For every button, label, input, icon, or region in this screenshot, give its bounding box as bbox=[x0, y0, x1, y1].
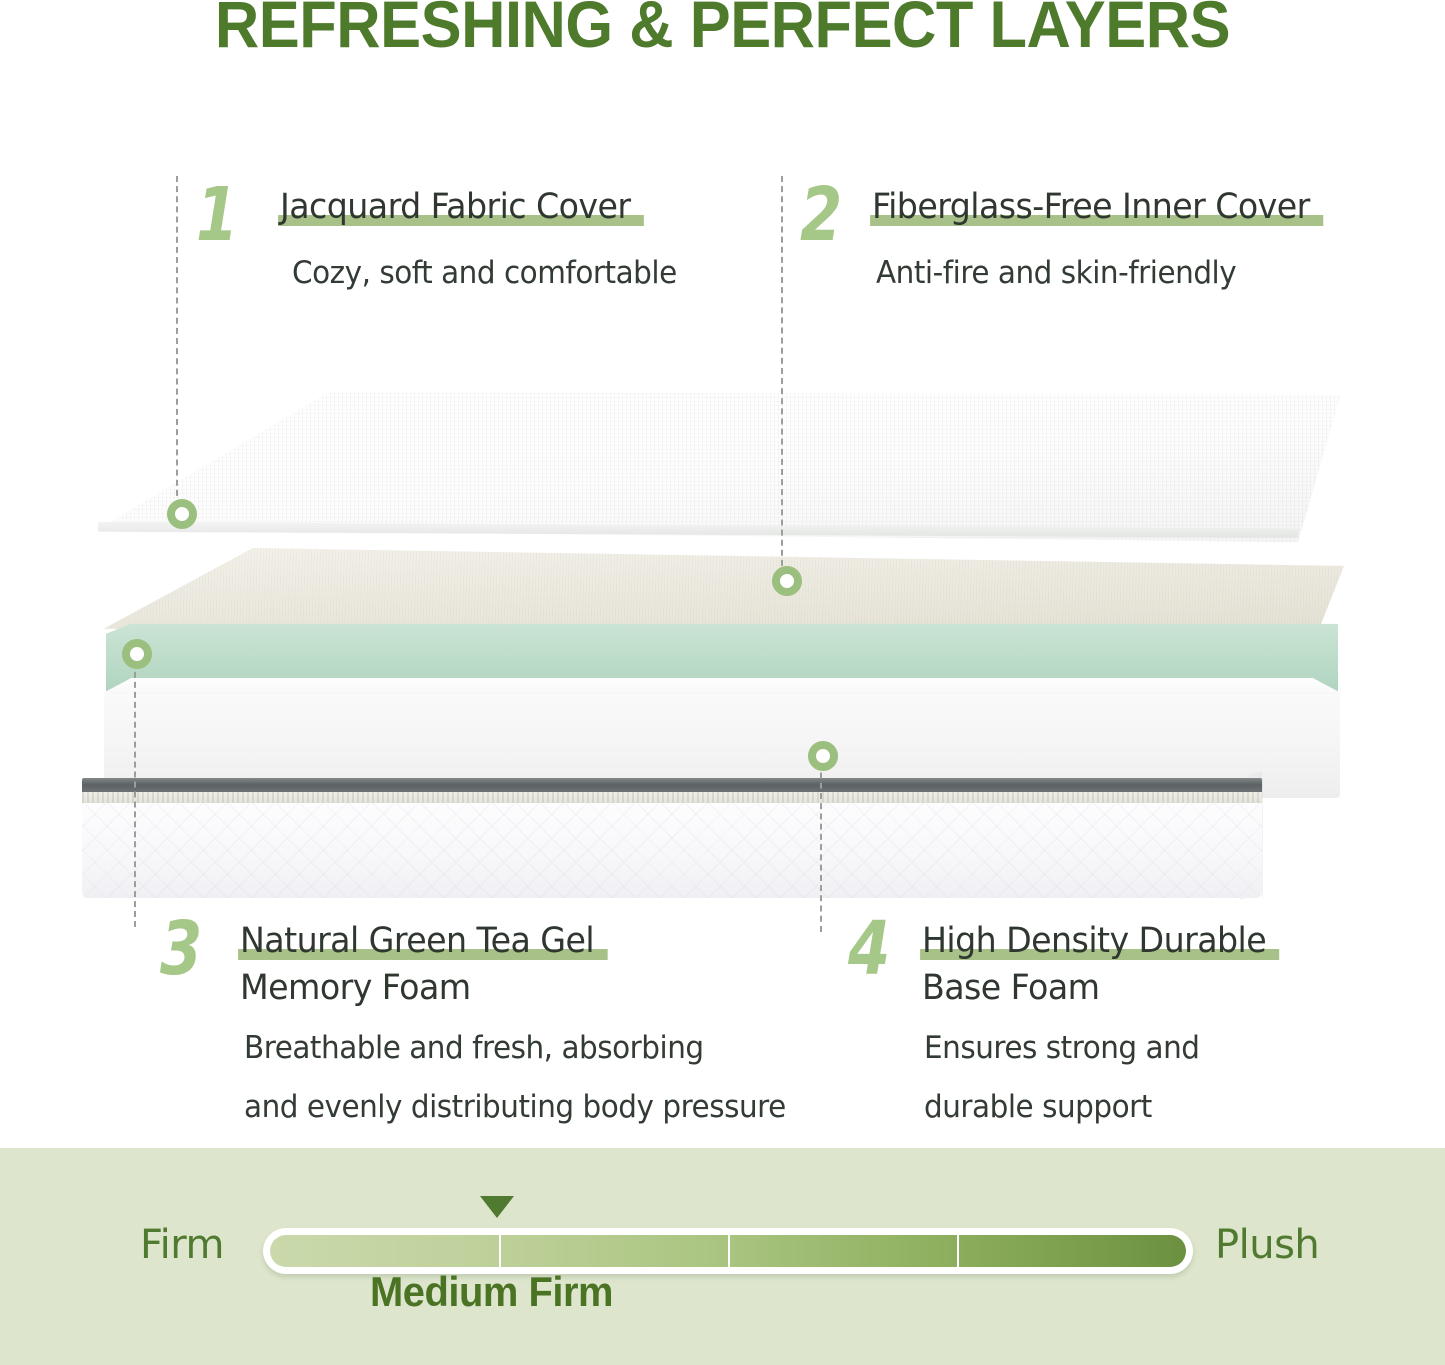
firmness-selected-label: Medium Firm bbox=[370, 1268, 613, 1316]
firmness-scale-track bbox=[270, 1235, 1186, 1267]
callout-4-body: High Density Durable Base Foam Ensures s… bbox=[922, 918, 1284, 1130]
layer-mattress-body bbox=[82, 778, 1262, 898]
firmness-marker-triangle-icon bbox=[480, 1196, 514, 1218]
leader-line-1 bbox=[176, 176, 178, 506]
callout-2-body: Fiberglass-Free Inner Cover Anti-fire an… bbox=[872, 184, 1333, 296]
callout-1-heading-highlight: Jacquard Fabric Cover bbox=[280, 184, 630, 231]
layer-jacquard-fabric-cover bbox=[98, 392, 1348, 542]
callout-4-number: 4 bbox=[848, 912, 890, 986]
firmness-segment-divider-2 bbox=[728, 1235, 730, 1267]
layer-marker-ring-3 bbox=[122, 639, 152, 669]
callout-3-body: Natural Green Tea Gel Memory Foam Breath… bbox=[240, 918, 814, 1130]
mattress-piping-dark bbox=[82, 778, 1262, 793]
callout-1-description: Cozy, soft and comfortable bbox=[292, 251, 677, 296]
firmness-right-label: Plush bbox=[1215, 1222, 1319, 1268]
base-foam-top-face bbox=[104, 678, 1340, 694]
leader-line-4 bbox=[820, 752, 822, 932]
callout-1-heading: Jacquard Fabric Cover bbox=[280, 184, 676, 231]
callout-3-heading-highlight: Natural Green Tea Gel bbox=[240, 918, 594, 965]
layer-marker-ring-2 bbox=[772, 566, 802, 596]
callout-4-description-line2: durable support bbox=[924, 1085, 1266, 1130]
firmness-segment-divider-3 bbox=[957, 1235, 959, 1267]
callout-1-body: Jacquard Fabric Cover Cozy, soft and com… bbox=[280, 184, 697, 296]
firmness-left-label: Firm bbox=[140, 1222, 224, 1268]
callout-3-description-line1: Breathable and fresh, absorbing bbox=[244, 1026, 786, 1071]
callout-4-heading-line1: High Density Durable bbox=[922, 918, 1266, 965]
callout-3-heading-line1: Natural Green Tea Gel bbox=[240, 918, 786, 965]
jacquard-top-surface bbox=[98, 392, 1348, 542]
callout-4-heading-line2: Base Foam bbox=[922, 965, 1266, 1012]
callout-3-heading-line2: Memory Foam bbox=[240, 965, 786, 1012]
infographic-stage: REFRESHING & PERFECT LAYERS bbox=[0, 0, 1445, 1365]
mattress-quilted-face bbox=[82, 803, 1262, 898]
callout-4-heading-highlight: High Density Durable bbox=[922, 918, 1266, 965]
callout-1-number: 1 bbox=[196, 178, 238, 252]
layer-marker-ring-4 bbox=[808, 741, 838, 771]
callout-3-number: 3 bbox=[160, 912, 202, 986]
callout-2-heading: Fiberglass-Free Inner Cover bbox=[872, 184, 1310, 231]
leader-line-2 bbox=[781, 176, 783, 576]
leader-line-3 bbox=[134, 652, 136, 927]
layer-marker-ring-1 bbox=[167, 499, 197, 529]
firmness-segment-divider-1 bbox=[499, 1235, 501, 1267]
callout-3-description-line2: and evenly distributing body pressure bbox=[244, 1085, 786, 1130]
callout-2-number: 2 bbox=[800, 178, 842, 252]
mattress-right-edge bbox=[1262, 778, 1263, 898]
callout-2-description: Anti-fire and skin-friendly bbox=[876, 251, 1310, 296]
callout-2-heading-highlight: Fiberglass-Free Inner Cover bbox=[872, 184, 1310, 231]
callout-4-description-line1: Ensures strong and bbox=[924, 1026, 1266, 1071]
